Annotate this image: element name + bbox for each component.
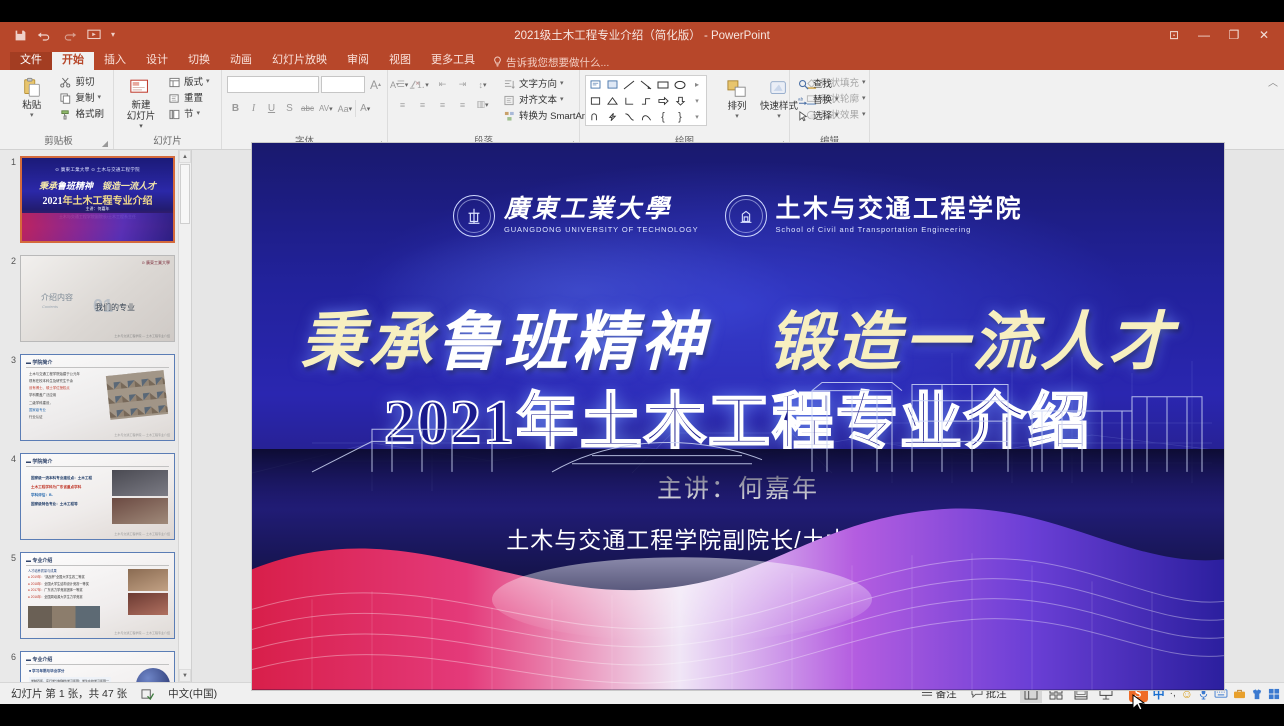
redo-icon[interactable]: [62, 29, 77, 41]
align-center-button[interactable]: ≡: [413, 96, 432, 113]
lightbulb-icon: [493, 56, 502, 70]
align-text-icon: [503, 94, 516, 107]
find-button[interactable]: 查找: [795, 77, 843, 92]
thumbnail-image[interactable]: ⊙ 廣東工業大學 介绍内容 Contents 01 我们的专业 土木与交通工程学…: [20, 255, 175, 342]
tab-review[interactable]: 审阅: [337, 52, 379, 70]
decrease-indent-button[interactable]: ⇤: [433, 76, 452, 93]
replace-icon: ab: [797, 94, 810, 107]
convert-to-smartart-label: 转换为 SmartArt: [519, 111, 588, 123]
paste-caret[interactable]: ▾: [30, 112, 34, 120]
thumbnail-number: 1: [6, 156, 20, 243]
font-color-button[interactable]: A▾: [355, 100, 372, 117]
svg-text:ab: ab: [798, 97, 804, 102]
new-slide-button[interactable]: 新建 幻灯片▾: [119, 74, 163, 133]
character-spacing-button[interactable]: AV▾: [317, 100, 335, 117]
underline-button[interactable]: U: [263, 100, 280, 117]
quick-access-toolbar: ▾: [0, 29, 115, 42]
align-text-label: 对齐文本: [519, 95, 557, 107]
ime-toolbox-icon[interactable]: [1233, 688, 1246, 699]
select-caret[interactable]: ▾: [835, 112, 839, 121]
thumb6-heading: 专业介绍: [32, 657, 52, 663]
cut-label: 剪切: [75, 77, 94, 89]
format-painter-button[interactable]: 格式刷: [57, 107, 108, 122]
font-name-input[interactable]: [227, 76, 319, 93]
save-icon[interactable]: [14, 29, 27, 42]
slide-edit-pane: 廣東工業大學 GUANGDONG UNIVERSITY OF TECHNOLOG…: [192, 150, 1284, 682]
ribbon-display-options-icon[interactable]: ⊡: [1160, 24, 1188, 46]
thumb3-heading: 学院简介: [32, 360, 52, 366]
format-painter-label: 格式刷: [75, 109, 104, 121]
thumbnail-image[interactable]: ▬ 学院简介 土木与交通工程学院始建于公元年现有在校本科生及研究生千余设有博士、…: [20, 354, 175, 441]
find-label: 查找: [813, 79, 832, 91]
scroll-down-arrow[interactable]: ▼: [179, 669, 191, 682]
paste-label: 粘贴: [22, 101, 41, 112]
tab-animations[interactable]: 动画: [220, 52, 262, 70]
paste-icon: [19, 76, 45, 100]
shape-leftbrace-icon[interactable]: {: [655, 109, 671, 124]
shape-triangle-icon[interactable]: [604, 93, 620, 108]
customize-qat-caret[interactable]: ▾: [111, 31, 115, 39]
thumbnail-number: 5: [6, 552, 20, 639]
university-name-cn: 廣東工業大學: [504, 197, 699, 222]
thumbnail-scrollbar[interactable]: ▲ ▼: [178, 150, 191, 682]
ime-punctuation-icon[interactable]: ·,: [1170, 688, 1176, 699]
thumbnail-slide-4[interactable]: 4 ▬ 学院简介 国家级一流本科专业建设点：土木工程土木工程学科为广东省重点学科…: [6, 453, 191, 540]
tab-more-tools[interactable]: 更多工具: [421, 52, 485, 70]
shape-rightangle-icon[interactable]: [621, 93, 637, 108]
school-seal-icon: [725, 195, 767, 237]
ribbon-group-clipboard: 粘贴 ▾ 剪切 复制 ▾: [4, 70, 114, 149]
ribbon-tab-bar: 文件 开始 插入 设计 切换 动画 幻灯片放映 审阅 视图 更多工具 告诉我您想…: [0, 48, 1284, 70]
shapes-gallery[interactable]: ▸ ▾ { } ▾: [585, 75, 707, 126]
section-button[interactable]: 节 ▾: [166, 107, 214, 122]
tab-design[interactable]: 设计: [136, 52, 178, 70]
workspace: 1 ⊙ 廣東工業大學 ⊙ 土木与交通工程学院 秉承鲁班精神 锻造一流人才 202…: [0, 150, 1284, 682]
thumbnail-slide-3[interactable]: 3 ▬ 学院简介 土木与交通工程学院始建于公元年现有在校本科生及研究生千余设有博…: [6, 354, 191, 441]
tell-me-text: 告诉我您想要做什么...: [506, 55, 609, 70]
copy-button[interactable]: 复制 ▾: [57, 91, 108, 106]
ribbon-group-paragraph: ☰▾ ⒈▾ ⇤ ⇥ ↕▾ ≡ ≡ ≡ ≡ ▥▾: [388, 70, 580, 149]
close-button[interactable]: ✕: [1250, 24, 1278, 46]
replace-label: 替换: [813, 95, 832, 107]
numbering-button[interactable]: ⒈▾: [413, 76, 432, 93]
restore-button[interactable]: ❐: [1220, 24, 1248, 46]
thumb5-heading: 专业介绍: [32, 558, 52, 564]
new-slide-label-1: 新建: [131, 100, 150, 111]
search-icon: [797, 78, 810, 91]
logo-university: 廣東工業大學 GUANGDONG UNIVERSITY OF TECHNOLOG…: [453, 195, 699, 237]
clipboard-group-label-text: 剪贴板: [44, 136, 73, 147]
format-painter-icon: [59, 108, 72, 121]
start-slideshow-icon[interactable]: [87, 29, 101, 41]
thumbnail-slide-2[interactable]: 2 ⊙ 廣東工業大學 介绍内容 Contents 01 我们的专业 土木与交通工…: [6, 255, 191, 342]
title-bar: ▾ 2021级土木工程专业介绍（简化版） - PowerPoint ⊡ — ❐ …: [0, 22, 1284, 48]
tab-transitions[interactable]: 切换: [178, 52, 220, 70]
shape-arc-icon[interactable]: [638, 109, 654, 124]
new-slide-caret[interactable]: ▾: [127, 123, 156, 131]
layout-label: 版式: [184, 77, 203, 89]
clipboard-dialog-launcher[interactable]: ◢: [102, 139, 108, 148]
thumbnail-image[interactable]: ▬ 学院简介 国家级一流本科专业建设点：土木工程土木工程学科为广东省重点学科学科…: [20, 453, 175, 540]
align-left-button[interactable]: ≡: [393, 96, 412, 113]
section-icon: [168, 108, 181, 121]
columns-button[interactable]: ▥▾: [473, 96, 492, 113]
arrange-icon: [724, 77, 750, 101]
current-slide[interactable]: 廣東工業大學 GUANGDONG UNIVERSITY OF TECHNOLOG…: [252, 143, 1224, 690]
select-pointer-icon: [797, 110, 810, 123]
tab-view[interactable]: 视图: [379, 52, 421, 70]
font-color-label: A: [360, 103, 367, 114]
character-spacing-label: AV: [319, 104, 329, 113]
cut-button[interactable]: 剪切: [57, 75, 108, 90]
university-seal-icon: [453, 195, 495, 237]
new-slide-icon: [128, 76, 154, 100]
thumb4-heading: 学院简介: [32, 459, 52, 465]
shape-line-icon[interactable]: [621, 77, 637, 92]
text-shadow-button[interactable]: S: [281, 100, 298, 117]
text-direction-icon: [503, 78, 516, 91]
thumbnail-slide-5[interactable]: 5 ▬ 专业介绍 人才培养质量与成果 ● 2019年：“挑战杯”全国大学生赛二等…: [6, 552, 191, 639]
font-size-input[interactable]: [321, 76, 365, 93]
thumbnail-image[interactable]: ⊙ 廣東工業大學 ⊙ 土木与交通工程学院 秉承鲁班精神 锻造一流人才 2021年…: [20, 156, 175, 243]
paste-button[interactable]: 粘贴 ▾: [9, 74, 54, 122]
scrollbar-thumb[interactable]: [180, 164, 190, 224]
scissors-icon: [59, 76, 72, 89]
arrange-label: 排列: [727, 102, 746, 113]
arrange-caret[interactable]: ▾: [735, 113, 739, 121]
shape-arrow-down-icon[interactable]: [672, 93, 688, 108]
bullets-button[interactable]: ☰▾: [393, 76, 412, 93]
school-name-cn: 土木与交通工程学院: [776, 197, 1024, 222]
slide-logos: 廣東工業大學 GUANGDONG UNIVERSITY OF TECHNOLOG…: [252, 195, 1224, 237]
spellcheck-icon[interactable]: [134, 688, 161, 700]
slides-group-label: 幻灯片: [119, 133, 216, 149]
ribbon-group-drawing: ▸ ▾ { } ▾: [580, 70, 790, 149]
layout-icon: [168, 76, 181, 89]
italic-button[interactable]: I: [245, 100, 262, 117]
shape-arrow-icon[interactable]: [638, 77, 654, 92]
increase-font-size-button[interactable]: A▴: [367, 76, 384, 93]
window-title: 2021级土木工程专业介绍（简化版） - PowerPoint: [0, 27, 1284, 43]
text-direction-label: 文字方向: [519, 79, 557, 91]
thumbnail-number: 3: [6, 354, 20, 441]
thumbnail-number: 4: [6, 453, 20, 540]
powerpoint-window: ▾ 2021级土木工程专业介绍（简化版） - PowerPoint ⊡ — ❐ …: [0, 22, 1284, 704]
reset-label: 重置: [184, 93, 203, 105]
copy-label: 复制: [75, 93, 94, 105]
arrange-button-visible[interactable]: 排列 ▾: [718, 75, 756, 123]
thumbnail-image[interactable]: ▬ 专业介绍 人才培养质量与成果 ● 2019年：“挑战杯”全国大学生赛二等奖 …: [20, 552, 175, 639]
scroll-up-arrow[interactable]: ▲: [179, 150, 191, 163]
thumbnail-slide-6[interactable]: 6 ▬ 专业介绍 ■ 学习年限与毕业学分 学制四年，实行学分制弹性学习年限；学生…: [6, 651, 191, 682]
thumbnail-number: 6: [6, 651, 20, 682]
tab-file[interactable]: 文件: [10, 52, 52, 70]
strikethrough-button[interactable]: abc: [299, 100, 316, 117]
shape-oval-icon[interactable]: [672, 77, 688, 92]
shape-textbox2-icon[interactable]: [604, 77, 620, 92]
shape-square-icon[interactable]: [587, 93, 603, 108]
line-spacing-button[interactable]: ↕▾: [473, 76, 492, 93]
shape-more-icon[interactable]: ▸: [689, 77, 705, 92]
scrollbar-track[interactable]: [180, 164, 190, 668]
thumbnail-image[interactable]: ▬ 专业介绍 ■ 学习年限与毕业学分 学制四年，实行学分制弹性学习年限；学生在校…: [20, 651, 175, 682]
ribbon-group-slides: 新建 幻灯片▾ 版式 ▾: [114, 70, 222, 149]
increase-indent-button[interactable]: ⇥: [453, 76, 472, 93]
justify-button[interactable]: ≡: [453, 96, 472, 113]
collapse-ribbon-button[interactable]: ︿: [1268, 74, 1278, 89]
quick-styles-icon: [766, 77, 792, 101]
select-button[interactable]: 选择 ▾: [795, 109, 843, 124]
change-case-label: Aa: [338, 104, 349, 114]
shape-curve-icon[interactable]: [621, 109, 637, 124]
tell-me-box[interactable]: 告诉我您想要做什么...: [493, 55, 609, 70]
section-label: 节: [184, 109, 194, 121]
section-caret[interactable]: ▾: [197, 110, 201, 119]
minimize-button[interactable]: —: [1190, 24, 1218, 46]
slides-group-label-text: 幻灯片: [153, 136, 182, 147]
bold-button[interactable]: B: [227, 100, 244, 117]
ime-skin-icon[interactable]: [1251, 688, 1263, 700]
clipboard-group-label: 剪贴板 ◢: [9, 133, 108, 149]
window-controls: ⊡ — ❐ ✕: [1160, 22, 1278, 48]
shape-roundrect-icon[interactable]: [587, 109, 603, 124]
ime-keyboard-icon[interactable]: [1214, 688, 1228, 699]
school-name-en: School of Civil and Transportation Engin…: [776, 226, 1024, 234]
thumbnail-number: 2: [6, 255, 20, 342]
language-indicator[interactable]: 中文(中国): [161, 686, 224, 701]
slide-thumbnail-pane: 1 ⊙ 廣東工業大學 ⊙ 土木与交通工程学院 秉承鲁班精神 锻造一流人才 202…: [0, 150, 192, 682]
align-right-button[interactable]: ≡: [433, 96, 452, 113]
ribbon-group-font: A▴ A▾ B I U S abc AV▾ Aa▾: [222, 70, 388, 149]
replace-button[interactable]: ab 替换 ▾: [795, 93, 843, 108]
shape-gallery-more-icon[interactable]: ▾: [689, 93, 705, 108]
shape-rightbrace-icon[interactable]: }: [672, 109, 688, 124]
shape-textbox-icon[interactable]: [587, 77, 603, 92]
tab-slideshow[interactable]: 幻灯片放映: [262, 52, 337, 70]
layout-button[interactable]: 版式 ▾: [166, 75, 214, 90]
undo-icon[interactable]: [37, 29, 52, 41]
thumbnail-slide-1[interactable]: 1 ⊙ 廣東工業大學 ⊙ 土木与交通工程学院 秉承鲁班精神 锻造一流人才 202…: [6, 156, 191, 243]
select-label: 选择: [813, 111, 832, 123]
shape-arrow-right-icon[interactable]: [655, 93, 671, 108]
shape-elbow-icon[interactable]: [638, 93, 654, 108]
university-name-block: 廣東工業大學 GUANGDONG UNIVERSITY OF TECHNOLOG…: [504, 197, 699, 234]
ribbon-group-editing: 查找 ab 替换 ▾ 选择 ▾: [790, 70, 870, 149]
building-line-art: [252, 350, 1224, 492]
smartart-icon: [503, 110, 516, 123]
slide-thumbnail-list: 1 ⊙ 廣東工業大學 ⊙ 土木与交通工程学院 秉承鲁班精神 锻造一流人才 202…: [0, 150, 191, 682]
change-case-button[interactable]: Aa▾: [336, 100, 355, 117]
ime-panel-icon[interactable]: [1268, 688, 1280, 700]
copy-caret[interactable]: ▾: [98, 94, 102, 103]
replace-caret[interactable]: ▾: [835, 96, 839, 105]
logo-school: 土木与交通工程学院 School of Civil and Transporta…: [725, 195, 1024, 237]
slide-counter[interactable]: 幻灯片 第 1 张，共 47 张: [4, 686, 134, 701]
copy-icon: [59, 92, 72, 105]
university-name-en: GUANGDONG UNIVERSITY OF TECHNOLOGY: [504, 226, 699, 234]
layout-caret[interactable]: ▾: [206, 78, 210, 87]
school-name-block: 土木与交通工程学院 School of Civil and Transporta…: [776, 197, 1024, 234]
tab-insert[interactable]: 插入: [94, 52, 136, 70]
reset-button[interactable]: 重置: [166, 91, 214, 106]
shape-scroll-down-icon[interactable]: ▾: [689, 109, 705, 124]
shape-rectangle-icon[interactable]: [655, 77, 671, 92]
new-slide-label-2: 幻灯片: [127, 111, 156, 122]
shape-lightning-icon[interactable]: [604, 109, 620, 124]
ribbon: 粘贴 ▾ 剪切 复制 ▾: [0, 70, 1284, 150]
reset-icon: [168, 92, 181, 105]
tab-home[interactable]: 开始: [52, 52, 94, 70]
